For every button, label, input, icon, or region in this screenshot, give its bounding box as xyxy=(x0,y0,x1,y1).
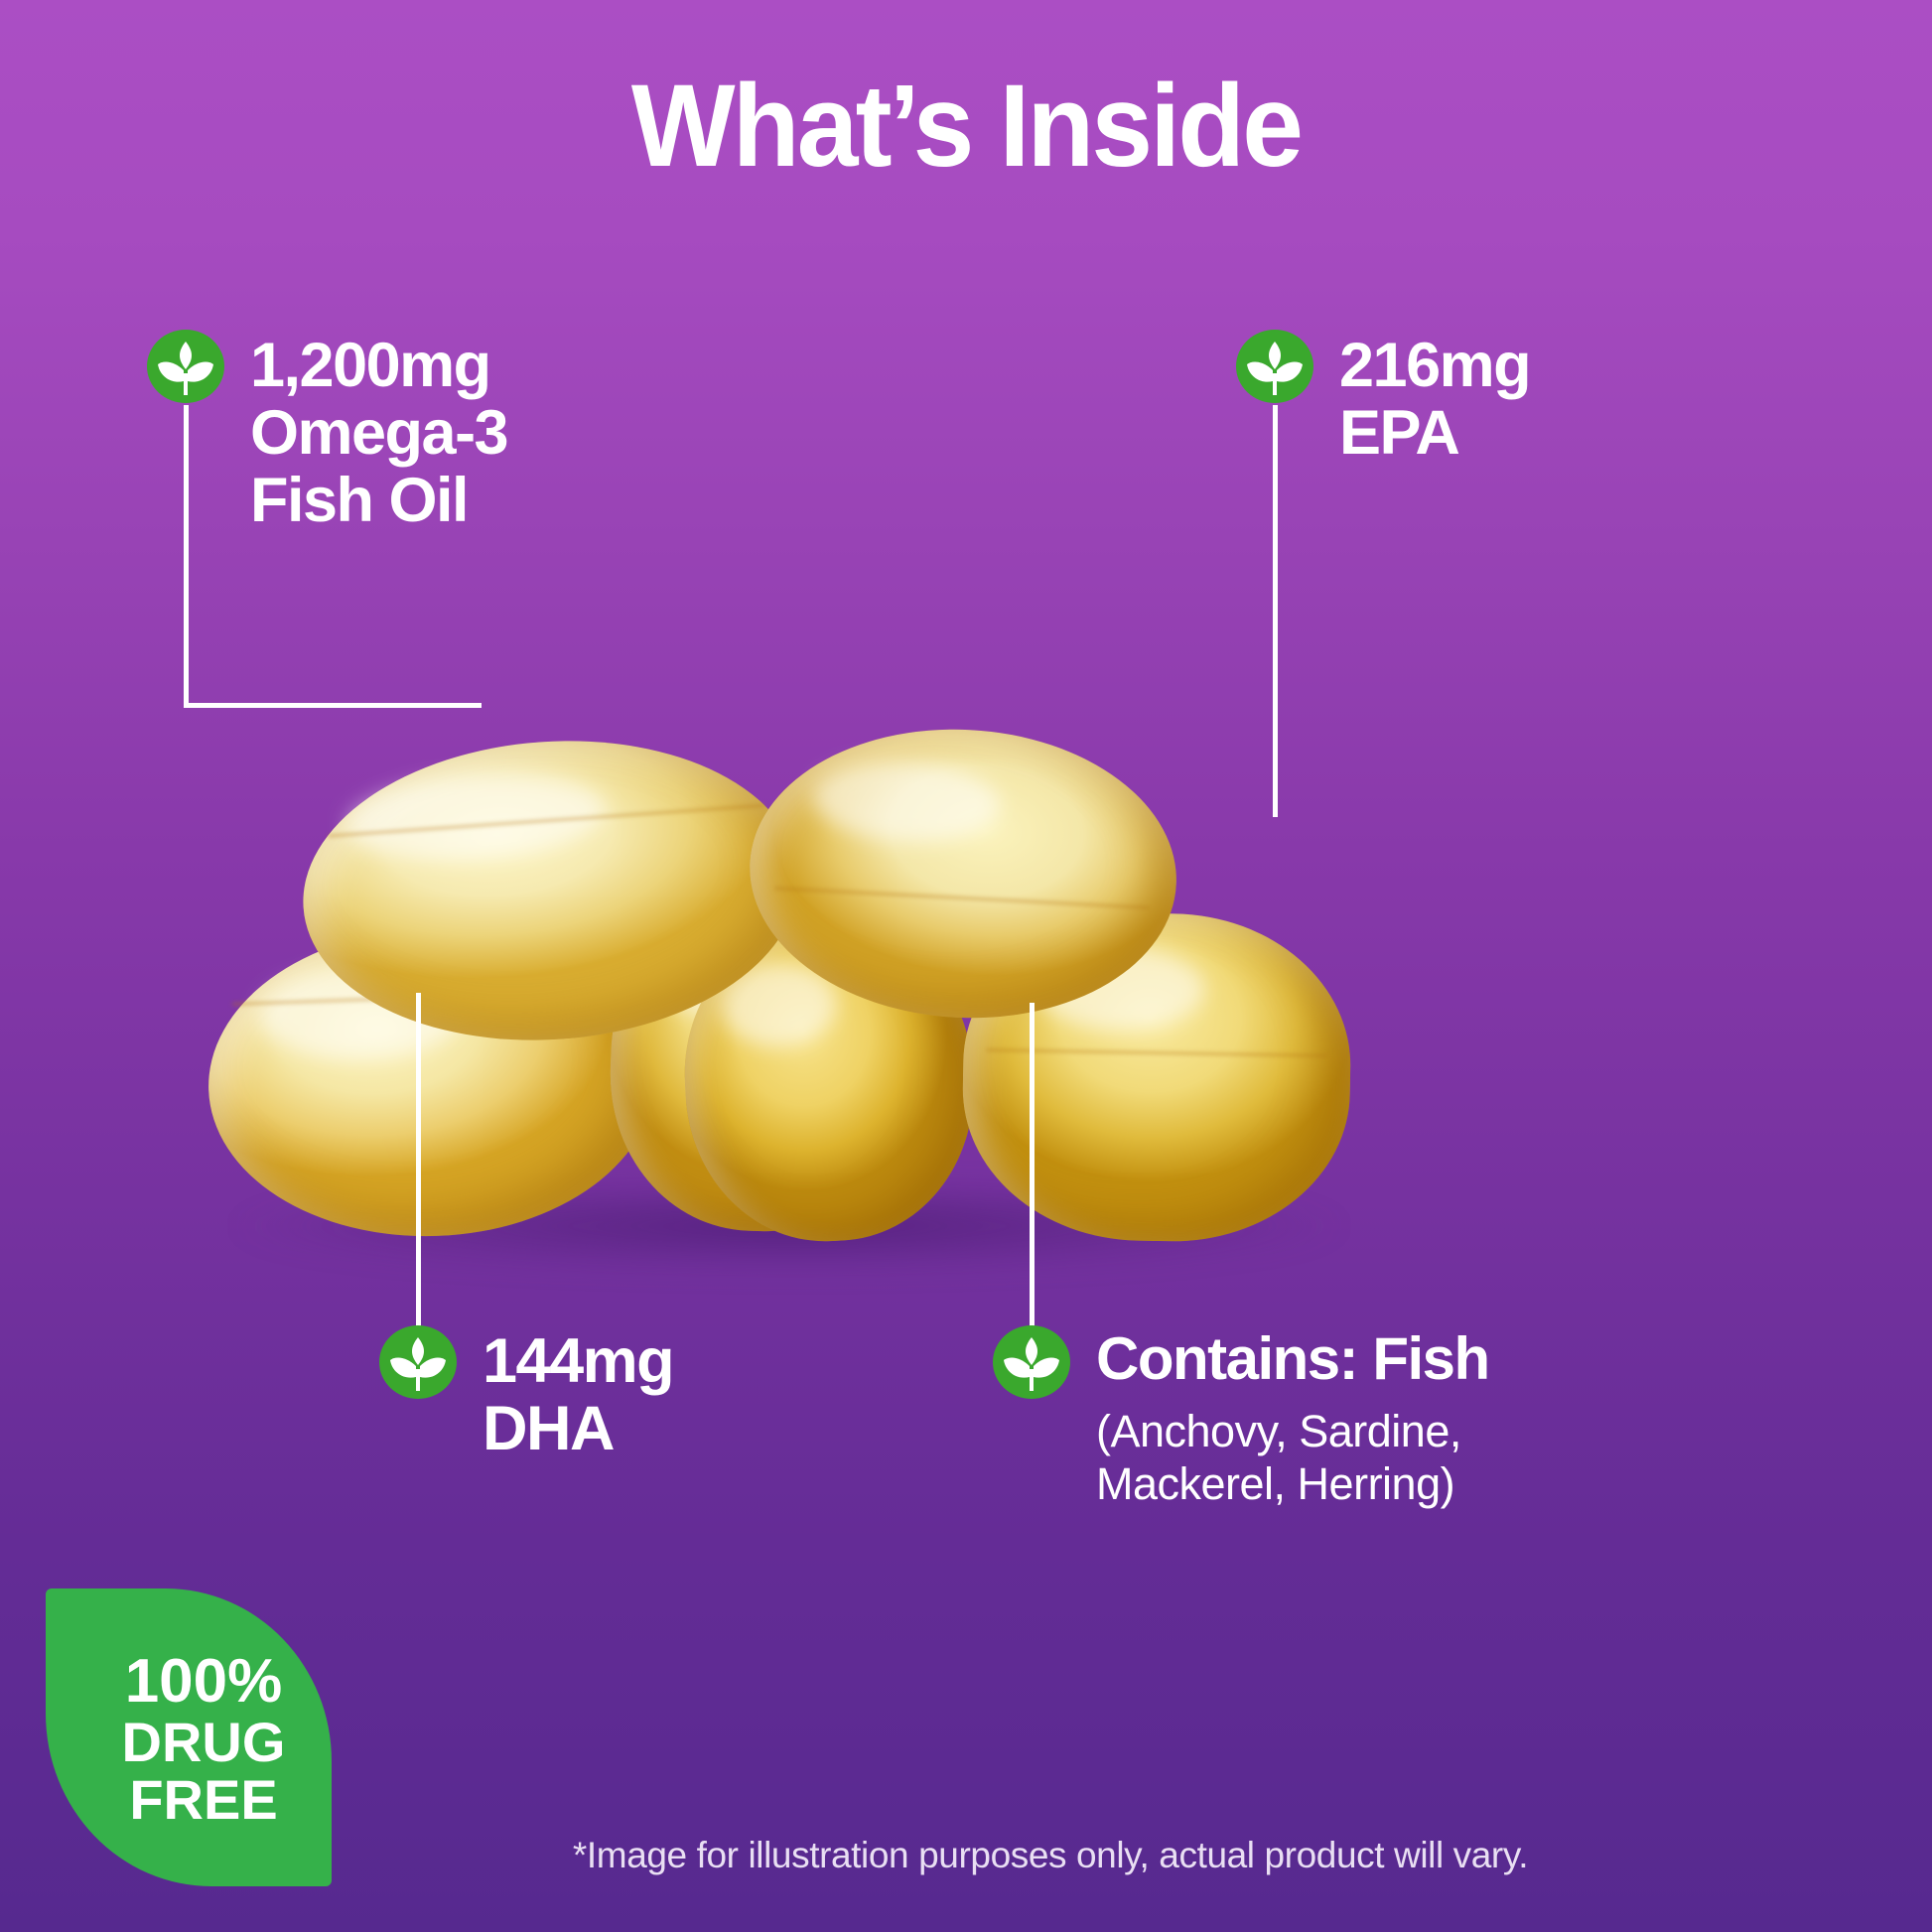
callout-epa-text: 216mg EPA xyxy=(1339,330,1530,467)
leader-line-epa xyxy=(1273,405,1278,817)
leader-line-dha xyxy=(416,993,421,1330)
leaf-sprout-icon xyxy=(147,330,224,403)
leader-line-omega-horizontal xyxy=(184,703,482,708)
leaf-sprout-icon xyxy=(993,1325,1070,1399)
leader-line-fish xyxy=(1030,1003,1035,1330)
leaf-sprout-icon xyxy=(1236,330,1313,403)
infographic-canvas: What’s Inside xyxy=(0,0,1932,1932)
badge-line-percent: 100% xyxy=(75,1650,332,1714)
callout-contains-fish-text: Contains: Fish xyxy=(1096,1325,1489,1392)
product-capsule-image xyxy=(208,730,1698,1286)
callout-contains-fish: Contains: Fish (Anchovy, Sardine, Macker… xyxy=(993,1325,1489,1510)
callout-fish-sources: (Anchovy, Sardine, Mackerel, Herring) xyxy=(1096,1405,1489,1510)
page-title: What’s Inside xyxy=(58,68,1873,185)
callout-omega3: 1,200mg Omega-3 Fish Oil xyxy=(147,330,507,534)
disclaimer-text: *Image for illustration purposes only, a… xyxy=(0,1835,1932,1876)
leaf-sprout-icon xyxy=(379,1325,457,1399)
badge-line-drug: DRUG xyxy=(75,1714,332,1771)
callout-dha: 144mg DHA xyxy=(379,1325,673,1462)
callout-dha-text: 144mg DHA xyxy=(483,1325,673,1462)
callout-omega3-text: 1,200mg Omega-3 Fish Oil xyxy=(250,330,507,534)
callout-epa: 216mg EPA xyxy=(1236,330,1530,467)
badge-line-free: FREE xyxy=(75,1771,332,1829)
